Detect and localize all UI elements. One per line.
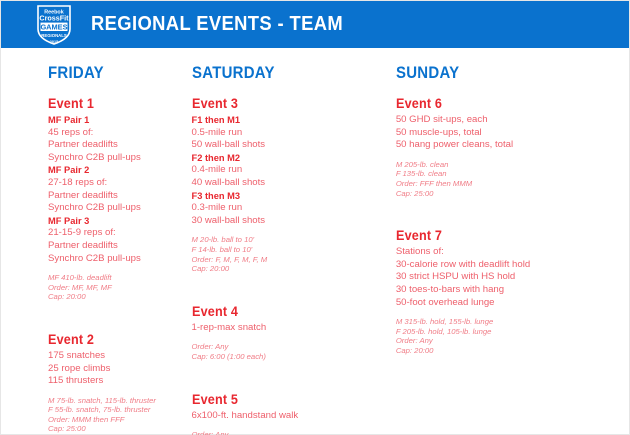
event-note-line: F 55-lb. snatch, 75-lb. thruster <box>48 405 186 415</box>
event-line: Partner deadlifts <box>48 139 186 152</box>
event-note-line: Order: MF, MF, MF <box>48 283 186 293</box>
event-title: Event 7 <box>396 227 606 243</box>
crossfit-games-regionals-logo-icon: Reebok CrossFit GAMES REGIONALS 2015 <box>31 3 77 47</box>
event-notes: M 205-lb. clean F 135-lb. clean Order: F… <box>396 160 629 198</box>
spacer <box>396 209 629 227</box>
event-note-line: F 135-lb. clean <box>396 169 629 179</box>
event-note-line: Cap: 6:00 (1:00 each) <box>192 352 390 362</box>
page-title: REGIONAL EVENTS - TEAM <box>91 13 343 36</box>
spacer <box>48 313 186 331</box>
event-note-line: F 14-lb. ball to 10' <box>192 245 390 255</box>
event-card: Event 5 6x100-ft. handstand walk Order: … <box>192 391 390 435</box>
event-notes: Order: Any Cap: 6:00 (1:00 each) <box>192 342 390 361</box>
event-title: Event 5 <box>192 391 370 407</box>
day-heading-sunday: SUNDAY <box>396 63 601 83</box>
event-note-line: Order: F, M, F, M, F, M <box>192 255 390 265</box>
event-line: Synchro C2B pull-ups <box>48 202 186 215</box>
event-title: Event 1 <box>48 95 172 111</box>
event-line: 1-rep-max snatch <box>192 322 390 335</box>
event-note-line: Cap: 20:00 <box>192 264 390 274</box>
event-line: 30 wall-ball shots <box>192 215 390 228</box>
event-line: 0.4-mile run <box>192 164 390 177</box>
event-line: 27-18 reps of: <box>48 177 186 190</box>
events-columns: FRIDAY Event 1 MF Pair 1 45 reps of: Par… <box>1 48 629 435</box>
event-note-line: Order: Any <box>192 430 390 435</box>
event-note-line: M 20-lb. ball to 10' <box>192 235 390 245</box>
svg-text:GAMES: GAMES <box>40 22 67 31</box>
event-line: 45 reps of: <box>48 127 186 140</box>
event-line: Synchro C2B pull-ups <box>48 152 186 165</box>
event-line: F1 then M1 <box>192 114 390 127</box>
event-line: 50 GHD sit-ups, each <box>396 114 629 127</box>
event-line: Synchro C2B pull-ups <box>48 253 186 266</box>
spacer <box>192 373 390 391</box>
event-note-line: M 75-lb. snatch, 115-lb. thruster <box>48 396 186 406</box>
event-line: Stations of: <box>396 246 629 259</box>
event-card: Event 7 Stations of: 30-calorie row with… <box>396 227 629 355</box>
event-line: 50 wall-ball shots <box>192 139 390 152</box>
event-note-line: Order: FFF then MMM <box>396 179 629 189</box>
event-card: Event 3 F1 then M1 0.5-mile run 50 wall-… <box>192 95 390 274</box>
regional-events-poster: Reebok CrossFit GAMES REGIONALS 2015 REG… <box>0 0 630 435</box>
svg-text:CrossFit: CrossFit <box>39 13 69 22</box>
event-line: 30-calorie row with deadlift hold <box>396 259 629 272</box>
event-line: 50-foot overhead lunge <box>396 297 629 310</box>
event-title: Event 4 <box>192 303 370 319</box>
event-note-line: F 205-lb. hold, 105-lb. lunge <box>396 327 629 337</box>
event-line: 6x100-ft. handstand walk <box>192 410 390 423</box>
event-note-line: Cap: 25:00 <box>396 189 629 199</box>
event-note-line: Cap: 20:00 <box>48 292 186 302</box>
page-header: Reebok CrossFit GAMES REGIONALS 2015 REG… <box>1 1 629 48</box>
event-line: 25 rope climbs <box>48 363 186 376</box>
event-notes: M 315-lb. hold, 155-lb. lunge F 205-lb. … <box>396 317 629 355</box>
event-title: Event 6 <box>396 95 606 111</box>
event-card: Event 1 MF Pair 1 45 reps of: Partner de… <box>48 95 186 302</box>
event-line: 175 snatches <box>48 350 186 363</box>
event-card: Event 6 50 GHD sit-ups, each 50 muscle-u… <box>396 95 629 198</box>
event-line: F3 then M3 <box>192 190 390 203</box>
event-title: Event 3 <box>192 95 370 111</box>
event-note-line: Order: Any <box>192 342 390 352</box>
event-notes: M 75-lb. snatch, 115-lb. thruster F 55-l… <box>48 396 186 434</box>
event-notes: Order: Any Cap: 7:00 <box>192 430 390 435</box>
event-line: MF Pair 3 <box>48 215 186 228</box>
event-line: 50 hang power cleans, total <box>396 139 629 152</box>
svg-text:2015: 2015 <box>50 40 58 44</box>
event-note-line: Order: Any <box>396 336 629 346</box>
event-note-line: M 315-lb. hold, 155-lb. lunge <box>396 317 629 327</box>
event-line: MF Pair 2 <box>48 164 186 177</box>
column-saturday: SATURDAY Event 3 F1 then M1 0.5-mile run… <box>186 63 390 435</box>
event-line: 21-15-9 reps of: <box>48 227 186 240</box>
event-notes: M 20-lb. ball to 10' F 14-lb. ball to 10… <box>192 235 390 273</box>
event-line: Partner deadlifts <box>48 190 186 203</box>
svg-text:REGIONALS: REGIONALS <box>41 33 67 38</box>
event-note-line: Order: MMM then FFF <box>48 415 186 425</box>
event-line: Partner deadlifts <box>48 240 186 253</box>
event-line: 115 thrusters <box>48 375 186 388</box>
event-line: 0.5-mile run <box>192 127 390 140</box>
event-note-line: M 205-lb. clean <box>396 160 629 170</box>
event-line: 40 wall-ball shots <box>192 177 390 190</box>
event-note-line: MF 410-lb. deadlift <box>48 273 186 283</box>
event-card: Event 2 175 snatches 25 rope climbs 115 … <box>48 331 186 434</box>
event-notes: MF 410-lb. deadlift Order: MF, MF, MF Ca… <box>48 273 186 302</box>
event-note-line: Cap: 20:00 <box>396 346 629 356</box>
event-line: 30 toes-to-bars with hang <box>396 284 629 297</box>
day-heading-friday: FRIDAY <box>48 63 169 83</box>
event-line: 0.3-mile run <box>192 202 390 215</box>
event-note-line: Cap: 25:00 <box>48 424 186 434</box>
event-title: Event 2 <box>48 331 172 347</box>
column-sunday: SUNDAY Event 6 50 GHD sit-ups, each 50 m… <box>390 63 629 435</box>
event-line: F2 then M2 <box>192 152 390 165</box>
spacer <box>192 285 390 303</box>
event-card: Event 4 1-rep-max snatch Order: Any Cap:… <box>192 303 390 362</box>
event-line: MF Pair 1 <box>48 114 186 127</box>
event-line: 30 strict HSPU with HS hold <box>396 271 629 284</box>
day-heading-saturday: SATURDAY <box>192 63 367 83</box>
event-line: 50 muscle-ups, total <box>396 127 629 140</box>
column-friday: FRIDAY Event 1 MF Pair 1 45 reps of: Par… <box>1 63 186 435</box>
